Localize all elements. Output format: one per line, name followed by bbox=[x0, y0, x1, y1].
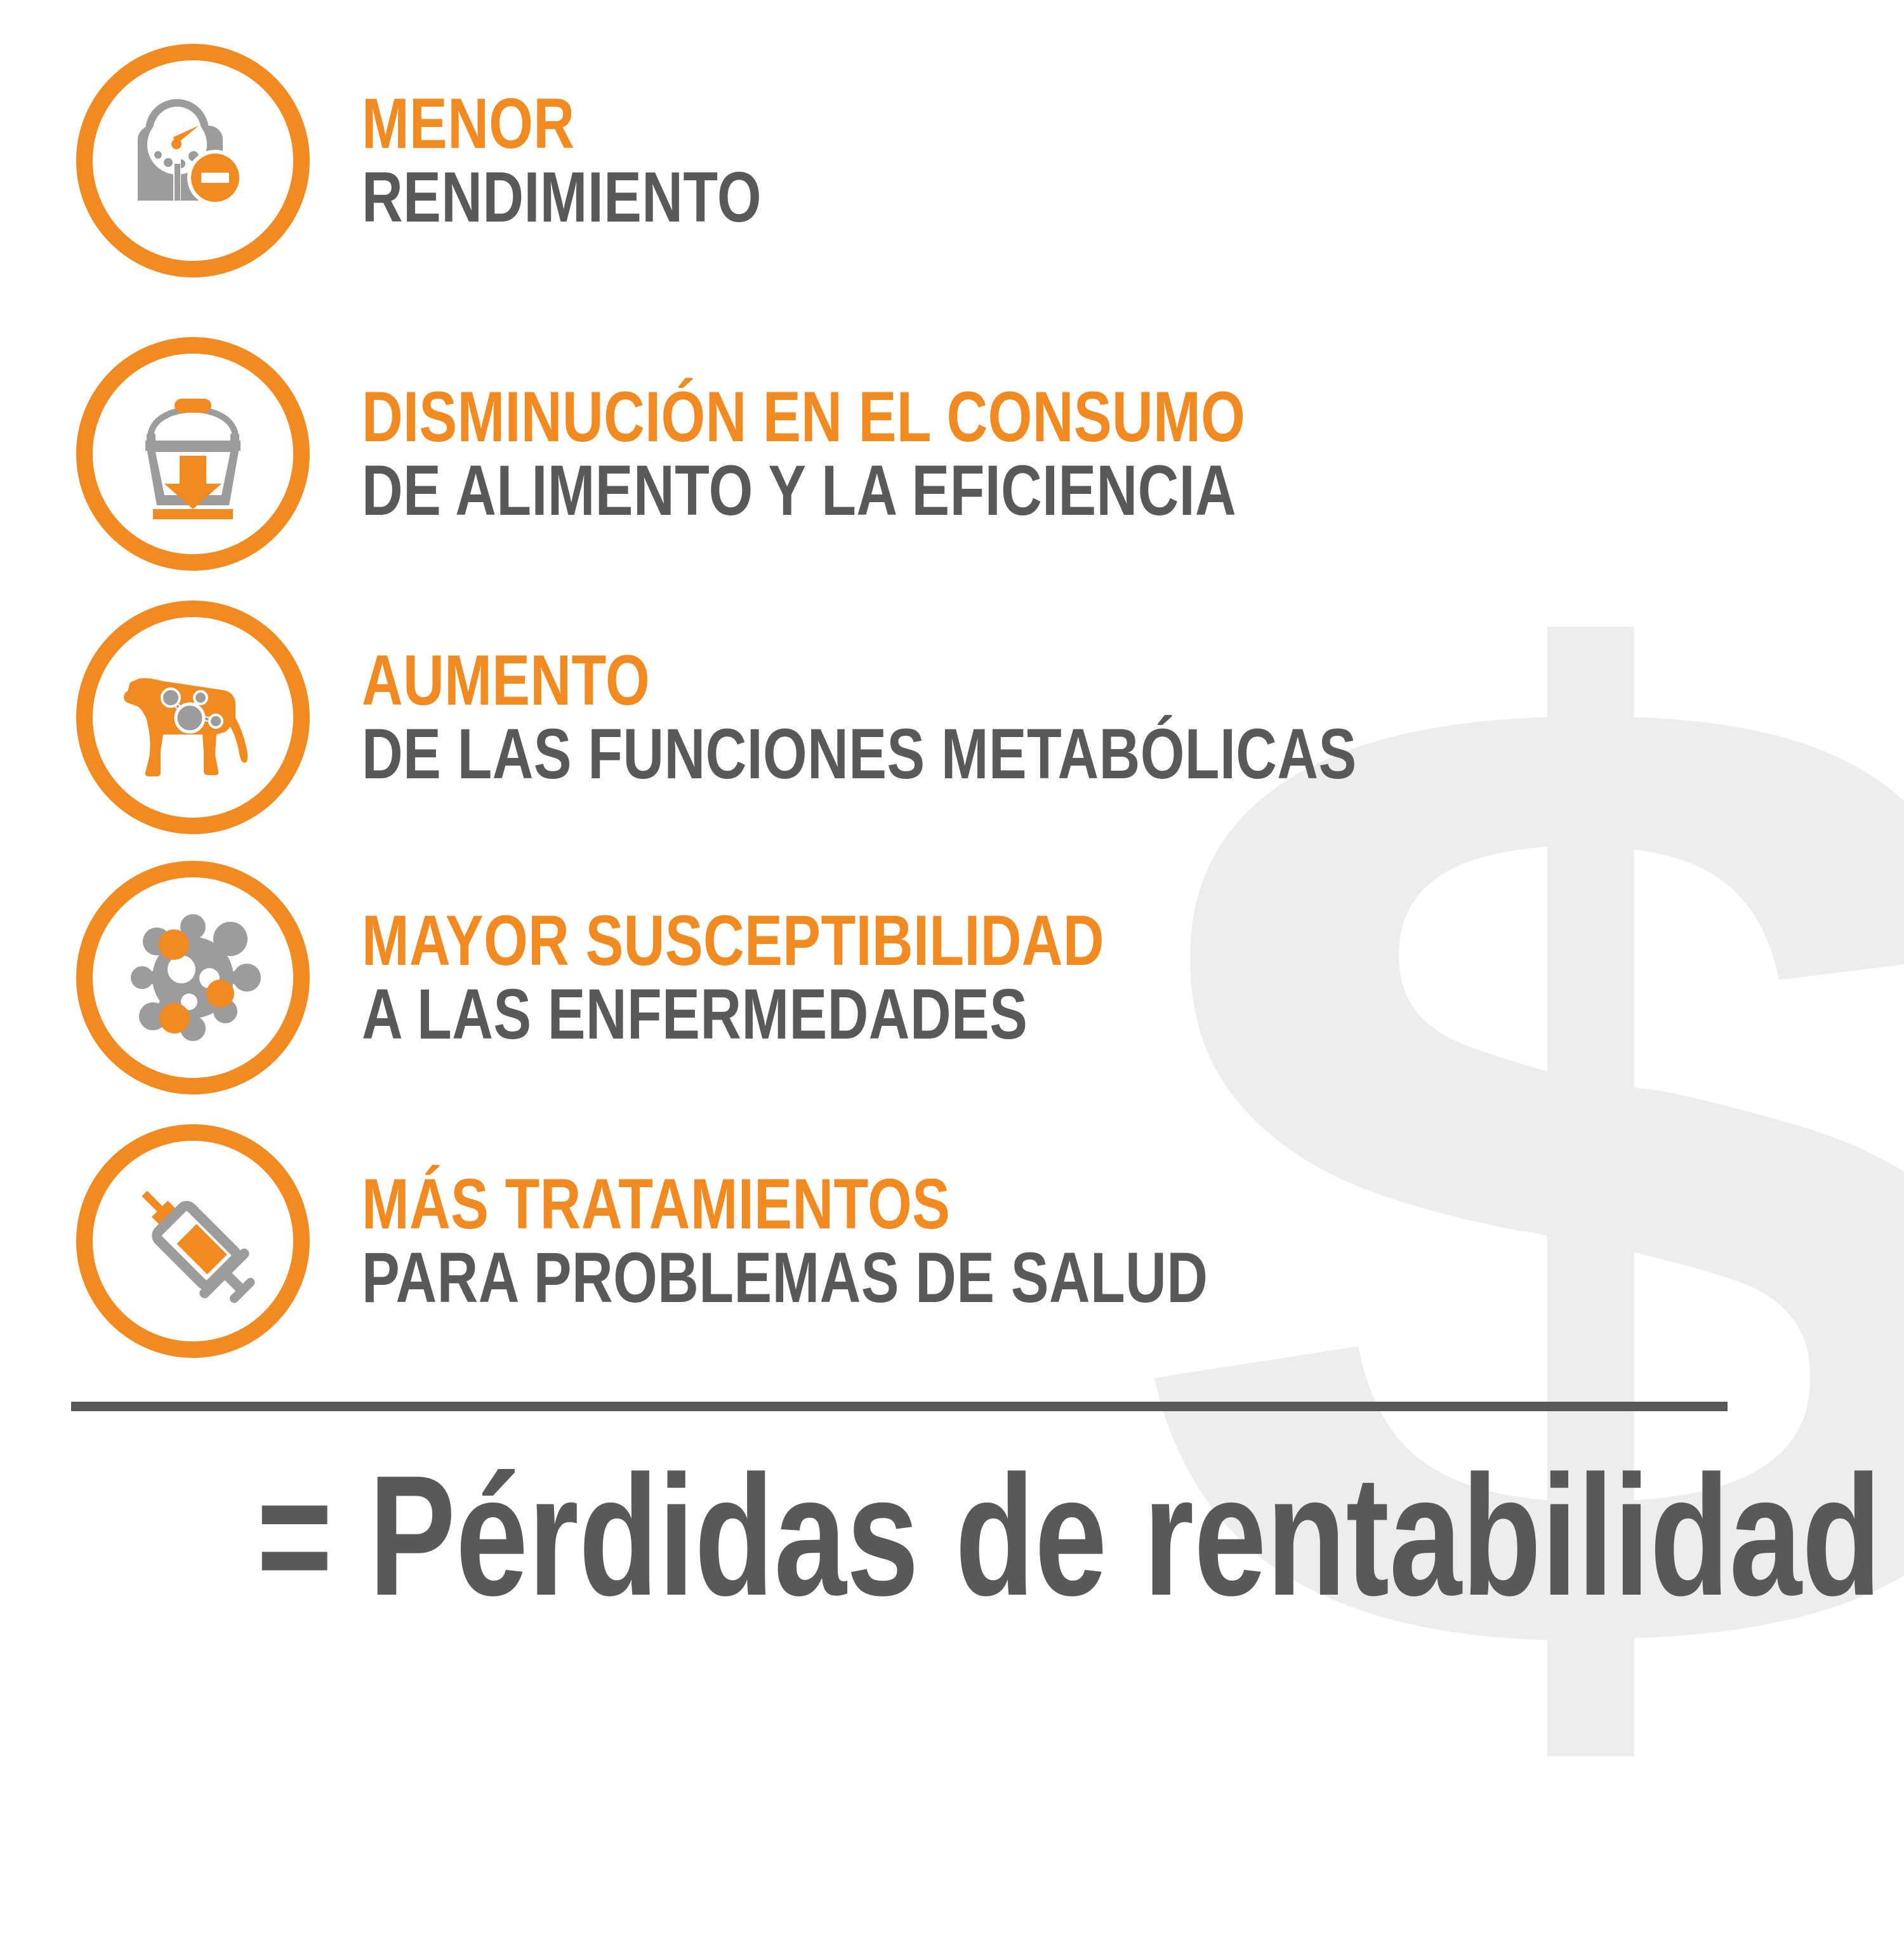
list-item-menor-rendimiento: MENOR RENDIMIENTO bbox=[76, 37, 861, 284]
list-item-subline: A LAS ENFERMEDADES bbox=[362, 978, 1104, 1051]
list-item-subline: RENDIMIENTO bbox=[362, 161, 762, 234]
list-item-headline: DISMINUCIÓN EN EL CONSUMO bbox=[362, 380, 1245, 454]
list-item-aumento-funciones: AUMENTO DE LAS FUNCIONES METABÓLICAS bbox=[76, 594, 1606, 841]
weight-scale-decrease-icon-badge bbox=[76, 44, 310, 277]
list-item-text: MÁS TRATAMIENTOS PARA PROBLEMAS DE SALUD bbox=[362, 1167, 1420, 1315]
infographic-canvas: $ bbox=[0, 0, 1904, 1714]
list-item-text: MAYOR SUSCEPTIBILIDAD A LAS ENFERMEDADES bbox=[362, 904, 1290, 1051]
virus-germ-icon bbox=[114, 898, 272, 1057]
feed-bucket-down-arrow-icon-badge bbox=[76, 337, 310, 571]
footer-total: = Pérdidas de rentabilidad bbox=[0, 1441, 1904, 1631]
virus-germ-icon-badge bbox=[76, 861, 310, 1094]
list-item-subline: PARA PROBLEMAS DE SALUD bbox=[362, 1241, 1208, 1315]
list-item-text: MENOR RENDIMIENTO bbox=[362, 87, 861, 234]
list-item-headline: MENOR bbox=[362, 87, 762, 161]
list-item-headline: MÁS TRATAMIENTOS bbox=[362, 1167, 1208, 1241]
feed-bucket-down-arrow-icon bbox=[114, 375, 272, 533]
list-item-subline: DE LAS FUNCIONES METABÓLICAS bbox=[362, 717, 1357, 791]
list-item-subline: DE ALIMENTO Y LA EFICIENCIA bbox=[362, 454, 1245, 528]
list-item-headline: AUMENTO bbox=[362, 644, 1357, 717]
cow-metabolism-molecule-icon-badge bbox=[76, 601, 310, 834]
syringe-treatment-icon bbox=[114, 1162, 272, 1320]
list-item-mayor-susceptibilidad: MAYOR SUSCEPTIBILIDAD A LAS ENFERMEDADES bbox=[76, 854, 1290, 1101]
sum-divider-rule bbox=[71, 1402, 1728, 1411]
total-loss-text: = Pérdidas de rentabilidad bbox=[256, 1441, 1881, 1631]
list-item-text: AUMENTO DE LAS FUNCIONES METABÓLICAS bbox=[362, 644, 1606, 791]
cow-metabolism-molecule-icon bbox=[114, 638, 272, 797]
syringe-treatment-icon-badge bbox=[76, 1124, 310, 1358]
list-item-mas-tratamientos: MÁS TRATAMIENTOS PARA PROBLEMAS DE SALUD bbox=[76, 1117, 1420, 1365]
list-item-disminucion-consumo: DISMINUCIÓN EN EL CONSUMO DE ALIMENTO Y … bbox=[76, 330, 1466, 578]
list-item-headline: MAYOR SUSCEPTIBILIDAD bbox=[362, 904, 1104, 978]
weight-scale-decrease-icon bbox=[114, 81, 272, 240]
list-item-text: DISMINUCIÓN EN EL CONSUMO DE ALIMENTO Y … bbox=[362, 380, 1466, 528]
